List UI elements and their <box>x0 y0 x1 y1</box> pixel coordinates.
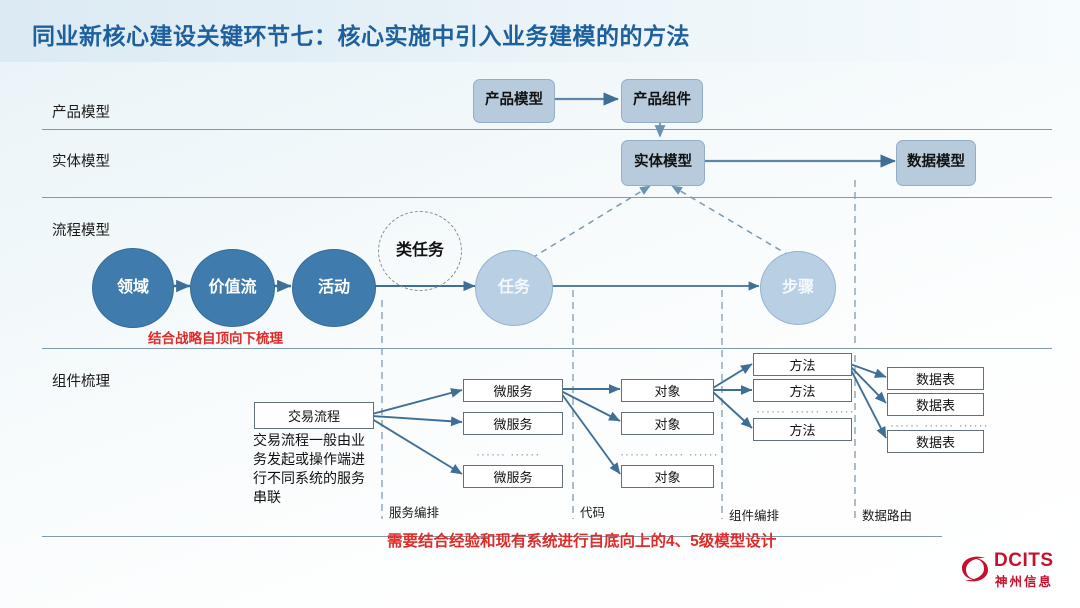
box-object-1[interactable]: 对象 <box>621 379 714 402</box>
ellipsis-microservice: ······ ······ <box>476 447 540 461</box>
logo-text-en: DCITS <box>994 550 1054 572</box>
box-product-component-line2: 组件 <box>662 92 691 110</box>
box-method-2[interactable]: 方法 <box>753 379 852 402</box>
page-title: 同业新核心建设关键环节七：核心实施中引入业务建模的的方法 <box>32 17 690 51</box>
circle-domain[interactable]: 领域 <box>92 248 174 328</box>
box-entity-model-line2: 模型 <box>663 154 692 172</box>
column-caption-code: 代码 <box>580 502 605 521</box>
box-product-component[interactable]: 产品 组件 <box>621 79 703 123</box>
box-product-model[interactable]: 产品 模型 <box>473 79 555 123</box>
box-object-2[interactable]: 对象 <box>621 412 714 435</box>
circle-task[interactable]: 任务 <box>475 250 553 326</box>
box-microservice-3[interactable]: 微服务 <box>463 465 563 488</box>
brand-logo: DCITS 神州信息 <box>958 548 1070 594</box>
box-microservice-2[interactable]: 微服务 <box>463 412 563 435</box>
circle-activity[interactable]: 活动 <box>292 249 376 327</box>
box-method-1[interactable]: 方法 <box>753 353 852 376</box>
box-data-model[interactable]: 数据 模型 <box>896 140 976 186</box>
box-object-3[interactable]: 对象 <box>621 465 714 488</box>
ellipsis-method: ······ ······ ······ <box>756 404 855 418</box>
band-label-process-model: 流程模型 <box>52 219 110 240</box>
band-label-product-model: 产品模型 <box>52 101 110 122</box>
band-separator-3 <box>42 348 1052 349</box>
box-data-table-2[interactable]: 数据表 <box>887 393 984 416</box>
dcits-swirl-icon <box>958 552 992 586</box>
box-product-component-line1: 产品 <box>633 92 662 110</box>
annotation-bottom-up: 需要结合经验和现有系统进行自底向上的4、5级模型设计 <box>387 529 776 551</box>
box-transaction-flow[interactable]: 交易流程 <box>254 402 374 429</box>
column-caption-service-orchestration: 服务编排 <box>389 502 439 521</box>
annotation-top-down: 结合战略自顶向下梳理 <box>148 327 283 347</box>
slide-canvas: 同业新核心建设关键环节七：核心实施中引入业务建模的的方法 产品模型 实体模型 流… <box>0 0 1080 608</box>
logo-text-cn: 神州信息 <box>995 571 1053 590</box>
box-product-model-line1: 产品 <box>485 92 514 110</box>
box-data-table-3[interactable]: 数据表 <box>887 430 984 453</box>
circle-step[interactable]: 步骤 <box>760 251 836 325</box>
column-caption-data-routing: 数据路由 <box>862 505 912 524</box>
ellipsis-object: ······ ······ ······ <box>620 447 719 461</box>
band-label-entity-model: 实体模型 <box>52 150 110 171</box>
box-entity-model-line1: 实体 <box>634 154 663 172</box>
circle-task-class[interactable]: 类任务 <box>378 211 462 291</box>
box-entity-model[interactable]: 实体 模型 <box>621 140 705 186</box>
box-data-model-line2: 模型 <box>936 154 965 172</box>
box-method-3[interactable]: 方法 <box>753 418 852 441</box>
box-product-model-line2: 模型 <box>514 92 543 110</box>
note-transaction-flow: 交易流程一般由业务发起或操作端进行不同系统的服务串联 <box>253 431 373 507</box>
box-data-model-line1: 数据 <box>907 154 936 172</box>
box-data-table-1[interactable]: 数据表 <box>887 367 984 390</box>
column-caption-component-orchestration: 组件编排 <box>729 505 779 524</box>
box-microservice-1[interactable]: 微服务 <box>463 379 563 402</box>
band-separator-1 <box>42 129 1052 130</box>
band-separator-2 <box>42 197 1052 198</box>
circle-value-stream[interactable]: 价值流 <box>190 249 275 327</box>
band-label-component-list: 组件梳理 <box>52 370 110 391</box>
